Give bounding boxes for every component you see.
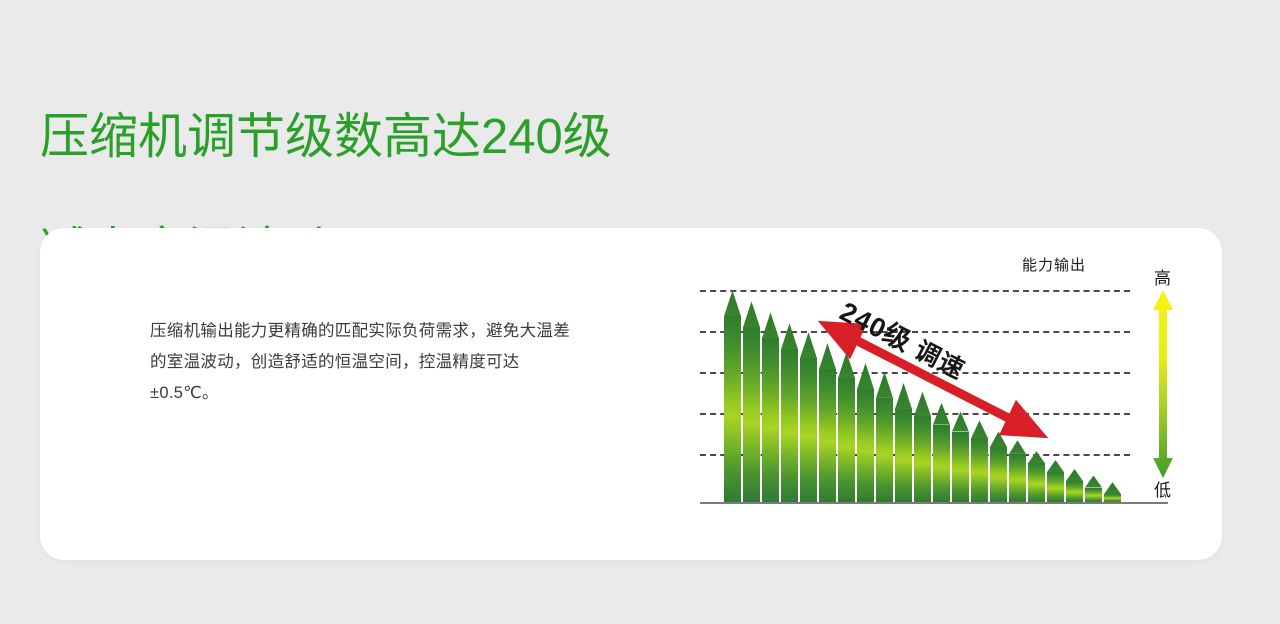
chart-bar	[724, 316, 741, 502]
chart-bar-tip	[1028, 451, 1045, 463]
chart-bar-tip	[800, 332, 817, 358]
chart-bar	[1028, 463, 1045, 502]
chart-bar-tip	[1066, 469, 1083, 481]
chart-bar	[762, 338, 779, 502]
chart-bar	[743, 327, 760, 502]
axis-label-low: 低	[1154, 476, 1171, 501]
chart-bar	[914, 416, 931, 502]
chart-bar-tip	[876, 372, 893, 398]
body-paragraph: 压缩机输出能力更精确的匹配实际负荷需求，避免大温差的室温波动，创造舒适的恒温空间…	[150, 316, 570, 409]
chart-bar	[819, 369, 836, 502]
chart-bar-tip	[914, 392, 931, 416]
chart-bar	[838, 378, 855, 502]
chart-bar-tip	[1047, 460, 1064, 472]
chart-bar	[952, 432, 969, 503]
chart-bar	[1047, 472, 1064, 502]
chart-bar-tip	[1104, 482, 1121, 494]
chart-bar	[1009, 454, 1026, 502]
chart-bar-tip	[743, 301, 760, 327]
chart-bar	[933, 425, 950, 502]
capacity-output-chart: 能力输出 高 低	[652, 250, 1182, 540]
vertical-gradient-arrow-icon	[1150, 290, 1176, 478]
chart-bar-tip	[857, 363, 874, 389]
chart-bar-tip	[1009, 440, 1026, 454]
chart-bar-tip	[952, 412, 969, 432]
chart-bar	[1104, 494, 1121, 502]
axis-label-high: 高	[1154, 264, 1171, 289]
chart-bar	[781, 349, 798, 502]
chart-bar-tip	[781, 323, 798, 349]
chart-bar-tip	[1085, 476, 1102, 488]
chart-bar	[990, 447, 1007, 502]
chart-bars	[724, 290, 1136, 502]
page-root: 压缩机调节级数高达240级 减少室温波动 压缩机输出能力更精确的匹配实际负荷需求…	[0, 0, 1280, 624]
chart-bar-tip	[971, 420, 988, 438]
chart-bar	[1085, 488, 1102, 502]
chart-baseline	[700, 502, 1168, 504]
page-title-line-1: 压缩机调节级数高达240级	[40, 109, 612, 166]
content-card: 压缩机输出能力更精确的匹配实际负荷需求，避免大温差的室温波动，创造舒适的恒温空间…	[40, 228, 1222, 560]
chart-bar-tip	[990, 431, 1007, 447]
chart-bar-tip	[933, 403, 950, 425]
chart-bar	[800, 358, 817, 502]
chart-bar	[857, 389, 874, 502]
chart-bar-tip	[838, 352, 855, 378]
chart-bar	[876, 398, 893, 502]
chart-bar	[971, 438, 988, 502]
chart-axis-title-capacity: 能力输出	[1022, 254, 1086, 275]
chart-bar-tip	[762, 312, 779, 338]
chart-bar-tip	[724, 290, 741, 316]
chart-bar-tip	[819, 343, 836, 369]
chart-bar	[895, 409, 912, 502]
chart-bar-tip	[895, 383, 912, 409]
chart-bar	[1066, 481, 1083, 502]
chart-right-axis: 高 低	[1144, 264, 1186, 514]
